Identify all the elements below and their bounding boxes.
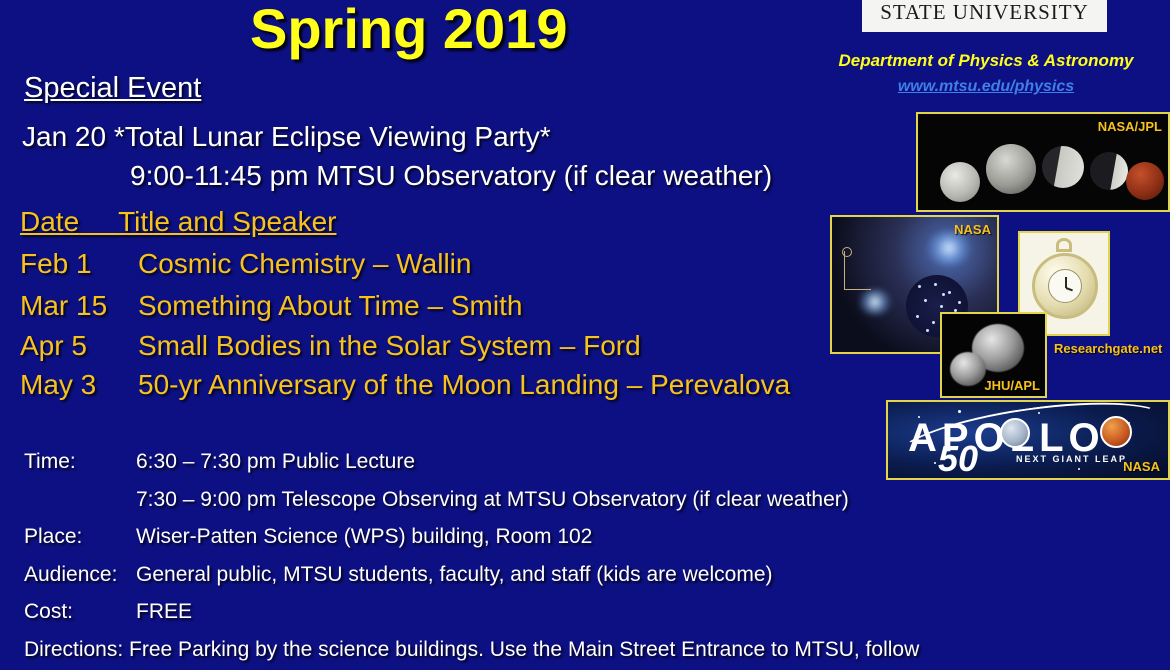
department-line: Department of Physics & Astronomy [812,51,1160,71]
cost-value: FREE [136,600,192,623]
schedule-row: May 350-yr Anniversary of the Moon Landi… [20,369,790,401]
detail-time-row-2: 7:30 – 9:00 pm Telescope Observing at MT… [136,488,849,512]
special-event-line1: Jan 20 *Total Lunar Eclipse Viewing Part… [22,121,551,153]
moon-phase-crescent-icon [1090,152,1128,190]
schedule-row-date: May 3 [20,369,138,401]
schedule-row-title: 50-yr Anniversary of the Moon Landing – … [138,369,790,400]
eclipse-credit: NASA/JPL [1098,119,1162,134]
asteroid-photo: JHU/APL [940,312,1047,398]
schedule-header: Date Title and Speaker [20,206,336,238]
lunar-eclipse-photo: NASA/JPL [916,112,1170,212]
directions-value: Free Parking by the science buildings. U… [129,638,919,661]
schedule-row-date: Feb 1 [20,248,138,280]
schedule-row: Apr 5Small Bodies in the Solar System – … [20,330,641,362]
schedule-row: Feb 1Cosmic Chemistry – Wallin [20,248,471,280]
moon-phase-half-icon [1042,146,1084,188]
time-value-2: 7:30 – 9:00 pm Telescope Observing at MT… [136,488,849,511]
asteroid-credit: JHU/APL [984,378,1040,393]
schedule-header-date: Date [20,206,79,237]
watch-crown-icon [1056,238,1072,252]
detail-directions-row: Directions: Free Parking by the science … [24,638,919,662]
nebula-glow [858,289,892,315]
moon-phase-gibbous-icon [986,144,1036,194]
nebula-pointer-circle [842,247,852,257]
poster-canvas: Spring 2019 STATE UNIVERSITY Department … [0,0,1170,670]
watch-face-icon [1048,269,1082,303]
watch-body-icon [1032,253,1098,319]
moon-phase-blood-icon [1126,162,1164,200]
time-value-1: 6:30 – 7:30 pm Public Lecture [136,450,415,473]
detail-cost-row: Cost:FREE [24,600,192,624]
apollo-moon-icon [1000,418,1030,448]
apollo-anniversary-number: 50 [938,438,978,480]
logo-text: STATE UNIVERSITY [862,0,1107,25]
audience-value: General public, MTSU students, faculty, … [136,563,773,586]
schedule-row-title: Small Bodies in the Solar System – Ford [138,330,641,361]
schedule-row-date: Mar 15 [20,290,138,322]
cost-label: Cost: [24,600,136,624]
time-label: Time: [24,450,136,474]
detail-time-row: Time:6:30 – 7:30 pm Public Lecture [24,450,415,474]
schedule-row: Mar 15Something About Time – Smith [20,290,522,322]
asteroid-small-lobe [950,352,986,386]
detail-audience-row: Audience:General public, MTSU students, … [24,563,773,587]
apollo-tagline: NEXT GIANT LEAP [1016,454,1127,464]
apollo-mars-icon [1100,416,1132,448]
moon-phase-full-icon [940,162,980,202]
audience-label: Audience: [24,563,136,587]
apollo-banner-photo: APOLLO 50 NEXT GIANT LEAP NASA [886,400,1170,480]
schedule-row-title: Cosmic Chemistry – Wallin [138,248,471,279]
place-value: Wiser-Patten Science (WPS) building, Roo… [136,525,592,548]
apollo-credit: NASA [1123,459,1160,474]
schedule-row-title: Something About Time – Smith [138,290,522,321]
detail-place-row: Place:Wiser-Patten Science (WPS) buildin… [24,525,592,549]
page-title: Spring 2019 [250,0,567,61]
nebula-credit: NASA [954,222,991,237]
place-label: Place: [24,525,136,549]
special-event-line2: 9:00-11:45 pm MTSU Observatory (if clear… [130,160,772,192]
department-url[interactable]: www.mtsu.edu/physics [812,78,1160,96]
special-event-heading: Special Event [24,72,201,105]
directions-label: Directions: [24,638,123,661]
watch-credit: Researchgate.net [1054,341,1162,356]
mtsu-logo: STATE UNIVERSITY [862,0,1107,32]
schedule-row-date: Apr 5 [20,330,138,362]
schedule-header-title: Title and Speaker [118,206,336,237]
